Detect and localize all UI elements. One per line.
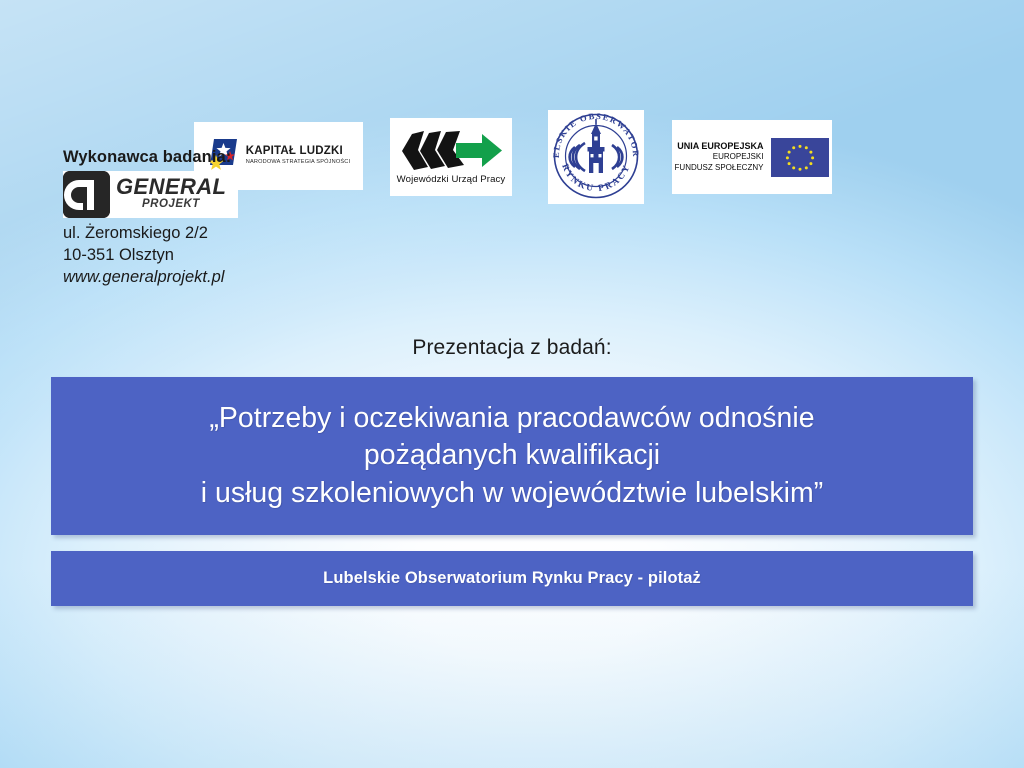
logo-wojewodzki-urzad-pracy: Wojewódzki Urząd Pracy	[390, 118, 512, 196]
contractor-heading: Wykonawca badania:	[63, 148, 393, 167]
presentation-subtitle-box: Lubelskie Obserwatorium Rynku Pracy - pi…	[51, 551, 973, 606]
contractor-block: Wykonawca badania: GENERAL PROJEKT ul. Ż…	[63, 148, 393, 288]
presentation-title-line-1: „Potrzeby i oczekiwania pracodawców odno…	[209, 400, 814, 437]
logo-wup-title: Wojewódzki Urząd Pracy	[397, 174, 506, 185]
contractor-address-line-2: 10-351 Olsztyn	[63, 245, 393, 267]
logo-ue-line1: UNIA EUROPEJSKA	[675, 141, 764, 153]
presentation-label: Prezentacja z badań:	[0, 336, 1024, 360]
logo-ue-line3: FUNDUSZ SPOŁECZNY	[675, 163, 764, 174]
presentation-title-line-2: pożądanych kwalifikacji	[364, 437, 660, 474]
logo-general-projekt: GENERAL PROJEKT	[63, 171, 238, 218]
logo-strip: KAPITAŁ LUDZKI NARODOWA STRATEGIA SPÓJNO…	[0, 58, 1024, 140]
general-projekt-mark-icon	[63, 171, 110, 218]
gp-name-primary: GENERAL	[116, 176, 226, 198]
presentation-subtitle: Lubelskie Obserwatorium Rynku Pracy - pi…	[323, 569, 701, 588]
contractor-website: www.generalprojekt.pl	[63, 267, 393, 289]
eu-flag-icon	[771, 138, 829, 177]
contractor-address-line-1: ul. Żeromskiego 2/2	[63, 223, 393, 245]
chevrons-and-green-arrow-icon	[398, 130, 504, 172]
castle-tower-emblem-icon: LUBELSKIE OBSERWATORIUM RYNKU PRACY	[549, 109, 643, 206]
presentation-title-box: „Potrzeby i oczekiwania pracodawców odno…	[51, 377, 973, 535]
logo-ue-line2: EUROPEJSKI	[675, 152, 764, 163]
logo-lubelskie-obserwatorium: LUBELSKIE OBSERWATORIUM RYNKU PRACY	[548, 110, 644, 204]
gp-name-secondary: PROJEKT	[142, 199, 226, 211]
presentation-title-line-3: i usług szkoleniowych w województwie lub…	[201, 475, 824, 512]
presentation-slide: KAPITAŁ LUDZKI NARODOWA STRATEGIA SPÓJNO…	[0, 0, 1024, 768]
logo-unia-europejska: UNIA EUROPEJSKA EUROPEJSKI FUNDUSZ SPOŁE…	[672, 120, 832, 194]
